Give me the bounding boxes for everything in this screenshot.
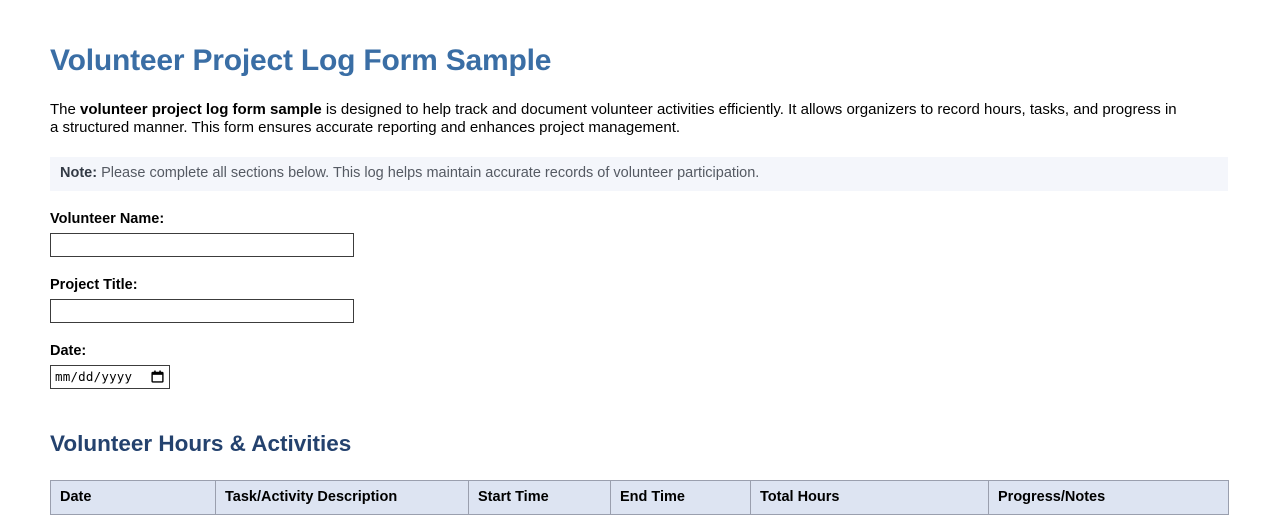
column-header-task: Task/Activity Description [216, 480, 469, 514]
section-title-volunteer-hours: Volunteer Hours & Activities [50, 389, 1228, 457]
date-input[interactable]: mm/dd/yyyy [50, 365, 170, 389]
column-header-total-hours: Total Hours [751, 480, 989, 514]
note-label: Note: [60, 165, 97, 181]
volunteer-name-label: Volunteer Name: [50, 211, 1228, 227]
volunteer-log-table: Date Task/Activity Description Start Tim… [50, 480, 1229, 515]
column-header-start-time: Start Time [469, 480, 611, 514]
project-title-label: Project Title: [50, 277, 1228, 293]
note-callout: Note: Please complete all sections below… [50, 157, 1228, 191]
column-header-date: Date [51, 480, 216, 514]
project-title-input[interactable] [50, 299, 354, 323]
calendar-icon[interactable] [151, 370, 164, 383]
page-title: Volunteer Project Log Form Sample [50, 0, 1228, 78]
intro-bold-term: volunteer project log form sample [80, 101, 322, 118]
field-group-volunteer-name: Volunteer Name: [50, 211, 1228, 257]
date-placeholder-text: mm/dd/yyyy [55, 369, 151, 384]
volunteer-name-input[interactable] [50, 233, 354, 257]
intro-lead: The [50, 101, 80, 118]
note-text: Please complete all sections below. This… [97, 165, 759, 181]
document-page: Volunteer Project Log Form Sample The vo… [0, 0, 1278, 515]
field-group-date: Date: mm/dd/yyyy [50, 343, 1228, 389]
field-group-project-title: Project Title: [50, 277, 1228, 323]
table-header-row: Date Task/Activity Description Start Tim… [51, 480, 1229, 514]
date-label: Date: [50, 343, 1228, 359]
column-header-end-time: End Time [611, 480, 751, 514]
intro-paragraph: The volunteer project log form sample is… [50, 101, 1180, 137]
column-header-progress: Progress/Notes [989, 480, 1229, 514]
